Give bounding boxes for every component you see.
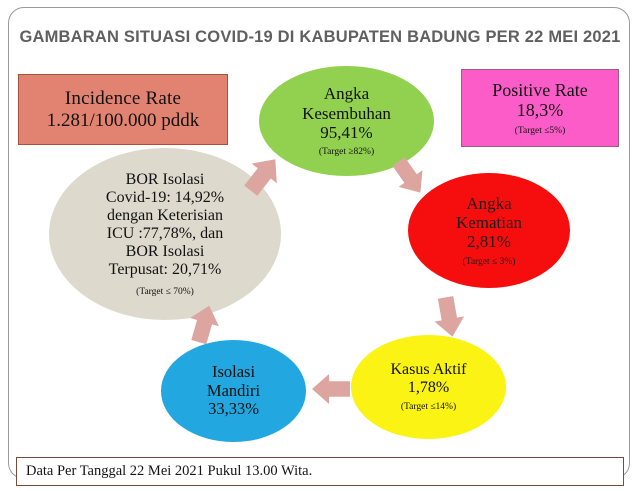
angka-kesembuhan-label-1: Angka [324,84,369,103]
angka-kematian-label-2: Kematian [456,213,522,232]
incidence-rate-label: Incidence Rate [65,88,181,109]
footer-text: Data Per Tanggal 22 Mei 2021 Pukul 13.00… [17,463,312,480]
angka-kematian-label-1: Angka [466,194,511,213]
isolasi-mandiri-value: 33,33% [208,400,259,419]
indicator-angka-kesembuhan: Angka Kesembuhan 95,41% (Target ≥82%) [259,66,434,176]
positive-rate-label: Positive Rate [492,80,588,100]
indicator-kasus-aktif: Kasus Aktif 1,78% (Target ≤14%) [351,335,506,439]
kasus-aktif-target: (Target ≤14%) [401,402,456,412]
footer-box: Data Per Tanggal 22 Mei 2021 Pukul 13.00… [16,457,624,486]
kasus-aktif-label: Kasus Aktif [391,361,467,379]
bor-isolasi-line-5: BOR Isolasi [126,243,205,261]
kasus-aktif-value: 1,78% [408,379,449,397]
angka-kesembuhan-label-2: Kesembuhan [302,104,391,123]
bor-isolasi-line-2: Covid-19: 14,92% [106,189,224,207]
angka-kematian-target: (Target ≤ 3%) [463,257,516,267]
bor-isolasi-line-3: dengan Keterisian [107,207,223,225]
bor-isolasi-line-1: BOR Isolasi [126,171,205,189]
incidence-rate-value: 1.281/100.000 pddk [47,110,200,131]
page-title: GAMBARAN SITUASI COVID-19 DI KABUPATEN B… [0,28,640,47]
bor-isolasi-line-4: ICU :77,78%, dan [107,225,223,243]
indicator-angka-kematian: Angka Kematian 2,81% (Target ≤ 3%) [408,173,570,288]
indicator-bor-isolasi: BOR Isolasi Covid-19: 14,92% dengan Kete… [49,148,281,320]
indicator-incidence-rate: Incidence Rate 1.281/100.000 pddk [18,74,228,145]
indicator-positive-rate: Positive Rate 18,3% (Target ≤5%) [461,69,619,147]
angka-kematian-value: 2,81% [467,232,511,251]
positive-rate-target: (Target ≤5%) [515,126,566,136]
angka-kesembuhan-value: 95,41% [320,123,372,142]
bor-isolasi-target: (Target ≤ 70%) [136,287,194,297]
indicator-isolasi-mandiri: Isolasi Mandiri 33,33% [161,340,306,442]
angka-kesembuhan-target: (Target ≥82%) [319,147,374,157]
bor-isolasi-line-6: Terpusat: 20,71% [109,261,222,279]
isolasi-mandiri-label-1: Isolasi [212,363,255,382]
positive-rate-value: 18,3% [517,100,564,120]
isolasi-mandiri-label-2: Mandiri [207,382,260,401]
infographic-canvas: GAMBARAN SITUASI COVID-19 DI KABUPATEN B… [0,0,640,491]
